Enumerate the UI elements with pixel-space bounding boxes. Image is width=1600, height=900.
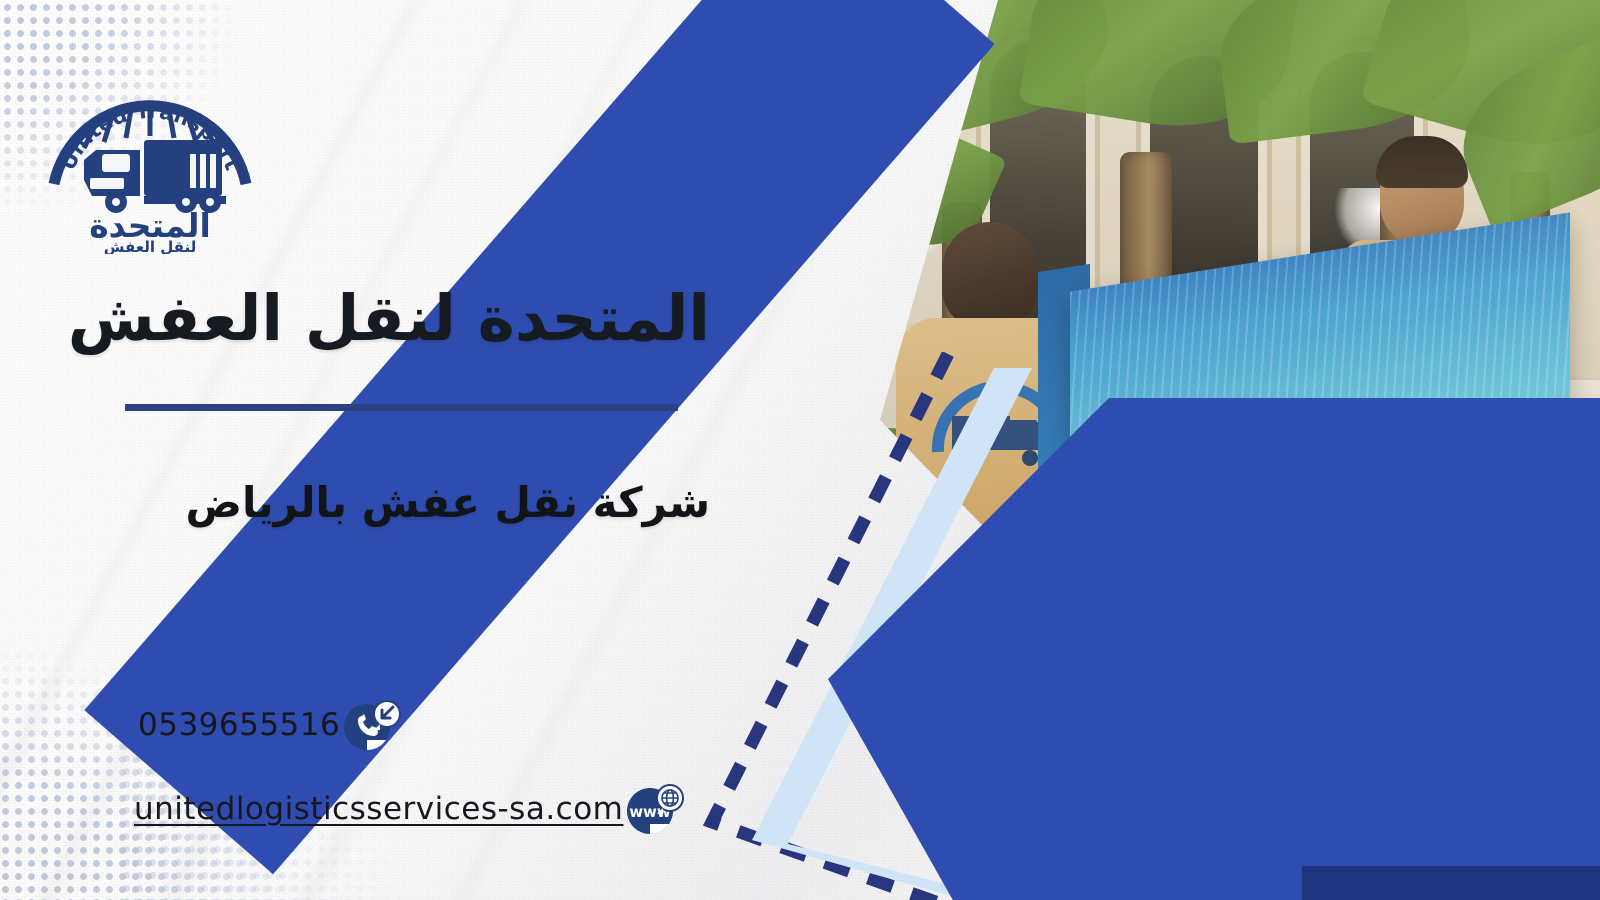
phone-incoming-icon (340, 694, 402, 756)
content-column: United Transport (0, 0, 820, 900)
website-url[interactable]: unitedlogisticsservices-sa.com (134, 791, 623, 827)
page-title: المتحدة لنقل العفش (68, 284, 710, 355)
company-logo[interactable]: United Transport (40, 44, 260, 254)
page-subtitle: شركة نقل عفش بالرياض (186, 478, 710, 527)
logo-arabic-sub: لنقل العفش (104, 238, 196, 254)
contact-phone-row[interactable]: 0539655516 (122, 694, 742, 756)
bottom-bar-navy (1302, 866, 1600, 900)
phone-number[interactable]: 0539655516 (138, 707, 340, 743)
banner-stage: على (0, 0, 1600, 900)
truck-icon (84, 140, 226, 213)
title-divider (125, 404, 678, 411)
www-globe-icon: www (623, 778, 685, 840)
contact-website-row[interactable]: www unitedlogisticsservices-sa.com (122, 778, 742, 840)
bottom-bar-blue (1110, 866, 1302, 900)
contact-block: 0539655516 www unitedlogisticsserv (122, 694, 742, 840)
